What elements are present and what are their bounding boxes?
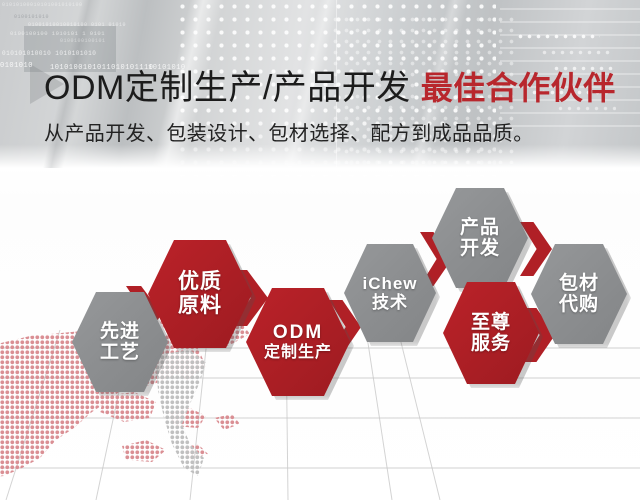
hex-label-line1: 至尊 [471,312,511,333]
hex-label-line1: 优质 [178,270,222,294]
subheadline: 从产品开发、包装设计、包材选择、配方到成品品质。 [44,124,534,144]
hex-label-line1: 先进 [100,321,140,342]
headline-accent: 最佳合作伙伴 [421,72,616,104]
hex-label-line1: 包材 [559,273,599,294]
headline-main: ODM定制生产/产品开发 [44,71,411,105]
hex-label-line1: iChew [362,274,417,293]
hex-label-line2: 服务 [471,333,511,354]
hex-label-line2: 技术 [372,293,408,312]
headline: ODM定制生产/产品开发 最佳合作伙伴 [44,71,616,105]
hex-label-line2: 定制生产 [264,344,332,362]
hex-label-line2: 代购 [559,294,599,315]
promo-banner: 01010100010101001010100 0100101010 01001… [0,0,640,500]
hex-label-line2: 原料 [178,294,222,318]
hex-label-line1: ODM [273,322,323,343]
hex-label-line2: 工艺 [100,342,140,363]
hex-label-line2: 开发 [460,238,500,259]
hex-label-line1: 产品 [460,217,500,238]
